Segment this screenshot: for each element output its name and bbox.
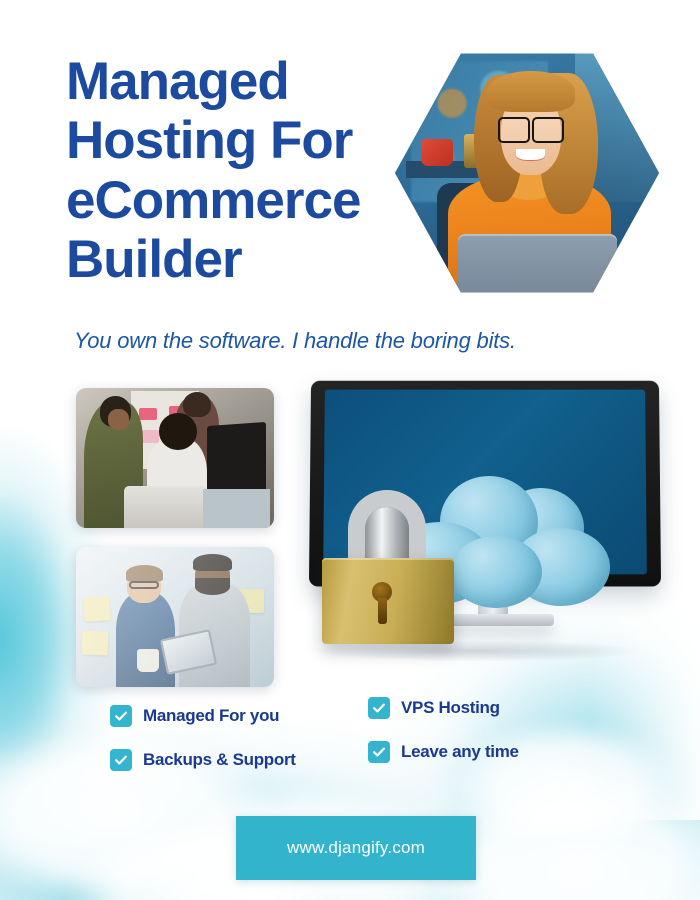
- padlock-keyhole-slot: [378, 598, 387, 624]
- checklist-column-left: Managed For you Backups & Support: [110, 705, 296, 793]
- padlock-body: [322, 558, 454, 644]
- laptop-icon: [124, 486, 207, 528]
- smile: [516, 149, 545, 161]
- checklist-item-label: VPS Hosting: [401, 698, 500, 718]
- checklist-item-label: Leave any time: [401, 742, 519, 762]
- glasses-icon: [498, 117, 564, 139]
- cta-website-button[interactable]: www.djangify.com: [236, 816, 476, 880]
- checklist-item[interactable]: Leave any time: [368, 741, 519, 763]
- checklist-column-right: VPS Hosting Leave any time: [368, 697, 519, 785]
- photo-two-colleagues-tablet: [76, 547, 274, 687]
- red-cup-icon: [421, 139, 453, 166]
- checklist-item[interactable]: Managed For you: [110, 705, 296, 727]
- hexagon-portrait: [386, 42, 668, 304]
- sticky-note-icon: [141, 430, 159, 443]
- checkbox-checked-icon[interactable]: [110, 749, 132, 771]
- padlock-icon: [322, 490, 454, 644]
- checkbox-checked-icon[interactable]: [368, 741, 390, 763]
- checklist-item[interactable]: Backups & Support: [110, 749, 296, 771]
- checkbox-checked-icon[interactable]: [368, 697, 390, 719]
- cta-label: www.djangify.com: [287, 838, 425, 858]
- person-face: [108, 409, 130, 430]
- checklist-item-label: Backups & Support: [143, 750, 296, 770]
- checkbox-checked-icon[interactable]: [110, 705, 132, 727]
- hero-drop-shadow: [312, 640, 642, 662]
- checklist-item-label: Managed For you: [143, 706, 279, 726]
- photo-team-collaboration: [76, 388, 274, 528]
- hair-top: [487, 71, 574, 112]
- laptop-icon: [458, 234, 616, 295]
- sticky-note-icon: [139, 408, 157, 421]
- page-title: Managed Hosting For eCommerce Builder: [66, 52, 406, 289]
- checklist-item[interactable]: VPS Hosting: [368, 697, 519, 719]
- glass-wall-overlay: [76, 547, 274, 687]
- person-head: [159, 413, 197, 449]
- desk-surface: [203, 489, 270, 528]
- poster-canvas: Managed Hosting For eCommerce Builder Yo…: [0, 0, 700, 900]
- cloud-lobe: [450, 536, 542, 608]
- tagline: You own the software. I handle the borin…: [74, 328, 674, 354]
- person-head: [183, 392, 211, 417]
- hero-graphic: [302, 378, 682, 678]
